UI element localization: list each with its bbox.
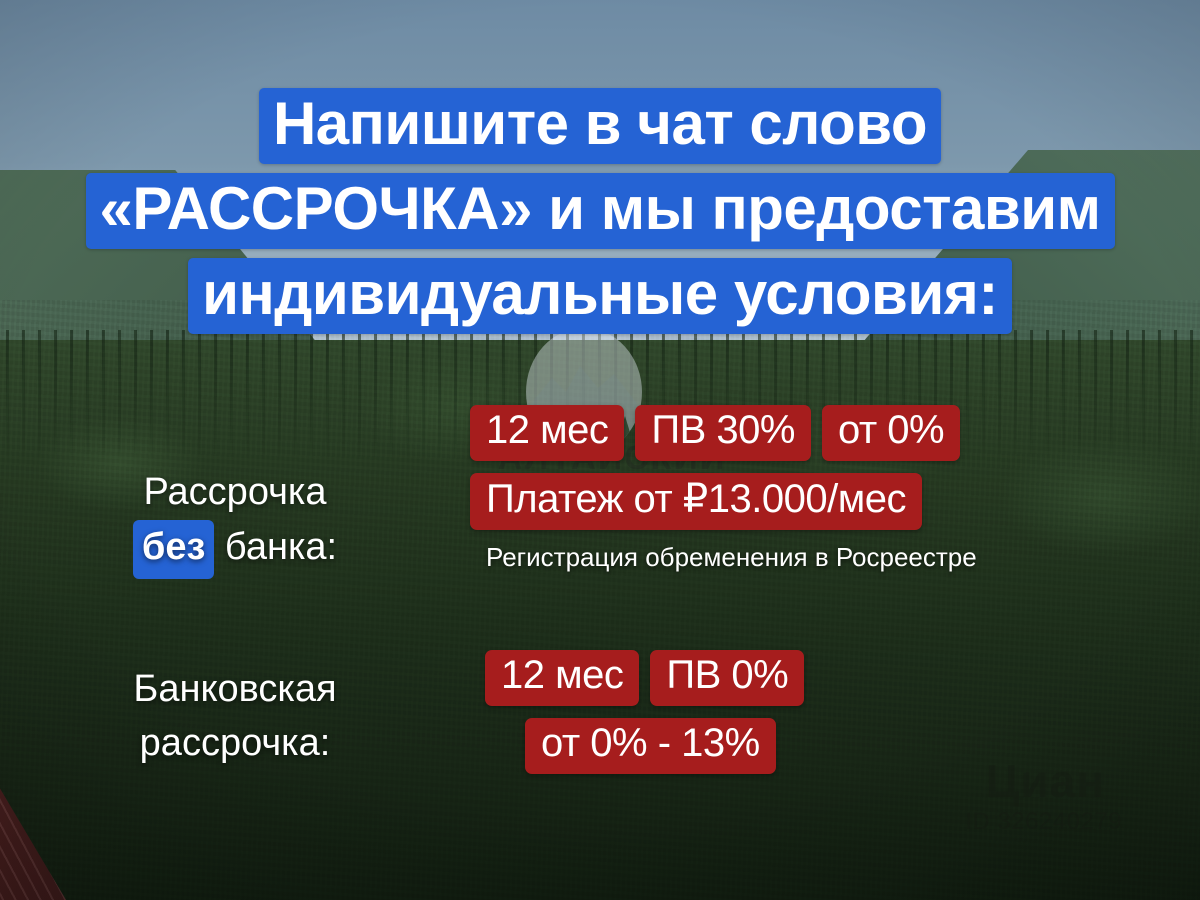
headline-line-2: «РАССРОЧКА» и мы предоставим	[0, 173, 1200, 249]
offer-label-no-bank: Рассрочка без банка:	[0, 400, 470, 579]
badge-line-term-bank: 12 мес ПВ 0%	[470, 650, 1200, 706]
headline-text-2: «РАССРОЧКА» и мы предоставим	[86, 173, 1115, 249]
offer-note-rosreestr: Регистрация обременения в Росреестре	[470, 542, 1200, 573]
badge-line-term-no-bank: 12 мес ПВ 30% от 0%	[470, 405, 1200, 461]
offer-label-bank: Банковская рассрочка:	[0, 663, 470, 773]
badge-rate-bank: от 0% - 13%	[525, 718, 776, 774]
offer-badges-no-bank: 12 мес ПВ 30% от 0% Платеж от ₽13.000/ме…	[470, 405, 1200, 573]
headline-line-3: индивидуальные условия:	[0, 258, 1200, 334]
promo-banner: АЛТАЙСКИЙ ПАРК Циан ID 326240279 Напишит…	[0, 0, 1200, 900]
offer-label-bank-line2: рассрочка:	[0, 717, 470, 771]
headline-line-1: Напишите в чат слово	[0, 88, 1200, 164]
headline-text-3: индивидуальные условия:	[188, 258, 1012, 334]
badge-rate: от 0%	[822, 405, 960, 461]
offer-label-highlight-bez: без	[133, 520, 215, 579]
offer-label-no-bank-line1: Рассрочка	[0, 466, 470, 520]
badge-downpayment: ПВ 30%	[635, 405, 811, 461]
badge-term-bank: 12 мес	[485, 650, 639, 706]
offer-badges-bank: 12 мес ПВ 0% от 0% - 13%	[470, 650, 1200, 786]
badge-downpayment-bank: ПВ 0%	[650, 650, 804, 706]
offer-row-no-bank: Рассрочка без банка: 12 мес ПВ 30% от 0%…	[0, 400, 1200, 579]
headline: Напишите в чат слово «РАССРОЧКА» и мы пр…	[0, 88, 1200, 343]
badge-monthly-payment: Платеж от ₽13.000/мес	[470, 473, 922, 530]
headline-text-1: Напишите в чат слово	[259, 88, 941, 164]
badge-term: 12 мес	[470, 405, 624, 461]
badge-line-payment-no-bank: Платеж от ₽13.000/мес	[470, 473, 1200, 530]
offer-label-no-bank-line2: без банка:	[0, 520, 470, 579]
badge-line-rate-bank: от 0% - 13%	[470, 718, 1200, 774]
offer-label-no-bank-rest: банка:	[214, 526, 337, 568]
offer-label-bank-line1: Банковская	[0, 663, 470, 717]
offer-row-bank: Банковская рассрочка: 12 мес ПВ 0% от 0%…	[0, 650, 1200, 786]
